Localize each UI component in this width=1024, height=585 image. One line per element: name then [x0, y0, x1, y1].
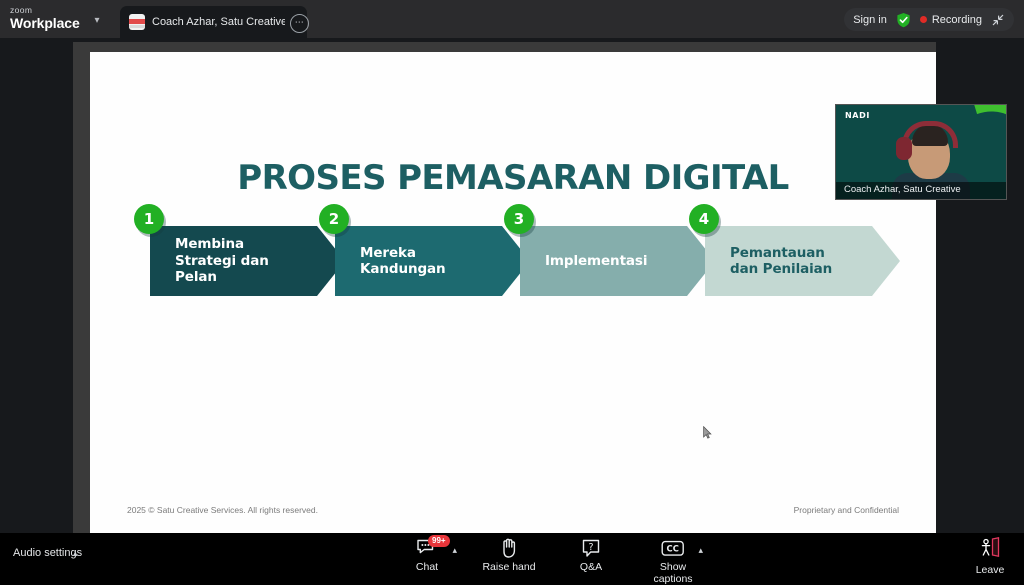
- process-step-2: Mereka Kandungan: [335, 226, 530, 296]
- leave-button[interactable]: Leave: [968, 537, 1012, 576]
- chevron-down-icon[interactable]: ▾: [90, 14, 104, 28]
- process-step-number-4: 4: [689, 204, 719, 234]
- leave-door-icon: [968, 537, 1012, 562]
- closed-caption-icon: CC: [644, 537, 702, 559]
- chevron-up-icon[interactable]: ▴: [73, 548, 78, 559]
- zoom-workplace-logo: zoom Workplace: [10, 5, 98, 35]
- zoom-window: zoom Workplace ▾ Coach Azhar, Satu Creat…: [0, 0, 1024, 576]
- toolbar-button-raise-hand[interactable]: Raise hand: [480, 537, 538, 576]
- title-bar: zoom Workplace ▾ Coach Azhar, Satu Creat…: [0, 0, 1024, 38]
- shared-screen-frame: PROSES PEMASARAN DIGITAL Membina Strateg…: [73, 42, 936, 533]
- toolbar-button-q-a[interactable]: ?Q&A: [562, 537, 620, 576]
- chat-unread-badge: 99+: [428, 535, 450, 547]
- tab-more-icon[interactable]: ⋯: [290, 14, 309, 33]
- audio-settings-button[interactable]: Audio settings ▴: [13, 547, 82, 559]
- chevron-up-icon[interactable]: ▴: [698, 545, 703, 556]
- footer-copyright: 2025 © Satu Creative Services. All right…: [127, 505, 318, 515]
- footer-confidential: Proprietary and Confidential: [794, 505, 899, 515]
- toolbar-button-chat[interactable]: 99+▴Chat: [398, 537, 456, 576]
- toolbar-center-group: 99+▴ChatRaise hand?Q&ACC▴Show captions: [398, 537, 702, 576]
- raise-hand-icon: [480, 537, 538, 559]
- process-step-label: Mereka Kandungan: [360, 245, 446, 278]
- toolbar-button-label: Chat: [398, 561, 456, 573]
- mouse-cursor-icon: [703, 426, 712, 439]
- collapse-icon[interactable]: [991, 13, 1005, 27]
- sign-in-button[interactable]: Sign in: [853, 14, 887, 26]
- recording-dot-icon: [920, 16, 927, 23]
- participant-video-thumbnail[interactable]: NADI Coach Azhar, Satu Creative: [835, 104, 1007, 200]
- process-step-3: Implementasi: [520, 226, 715, 296]
- nadi-watermark: NADI: [845, 111, 870, 120]
- process-step-number-2: 2: [319, 204, 349, 234]
- tab-title: Coach Azhar, Satu Creative's scre: [152, 15, 285, 30]
- svg-text:?: ?: [588, 542, 593, 553]
- participant-name: Coach Azhar, Satu Creative: [844, 184, 961, 195]
- process-step-label: Membina Strategi dan Pelan: [175, 236, 269, 286]
- participant-name-bar: Coach Azhar, Satu Creative: [836, 182, 1006, 199]
- process-flow-diagram: Membina Strategi dan Pelan1Mereka Kandun…: [90, 52, 936, 533]
- process-step-label: Pemantauan dan Penilaian: [730, 245, 832, 278]
- presentation-slide: PROSES PEMASARAN DIGITAL Membina Strateg…: [90, 52, 936, 533]
- toolbar-button-label: Q&A: [562, 561, 620, 573]
- question-box-icon: ?: [562, 537, 620, 559]
- recording-indicator[interactable]: Recording: [920, 14, 982, 26]
- toolbar-button-label: Raise hand: [480, 561, 538, 573]
- process-step-number-1: 1: [134, 204, 164, 234]
- share-tab[interactable]: Coach Azhar, Satu Creative's scre ⋯: [120, 6, 307, 38]
- process-step-number-3: 3: [504, 204, 534, 234]
- share-stage: PROSES PEMASARAN DIGITAL Membina Strateg…: [0, 38, 1024, 533]
- audio-settings-label: Audio settings: [13, 547, 82, 559]
- process-step-1: Membina Strategi dan Pelan: [150, 226, 345, 296]
- titlebar-right-group: Sign in Recording: [844, 8, 1014, 31]
- headphone-cup-icon: [896, 137, 912, 160]
- shield-check-icon[interactable]: [896, 12, 911, 28]
- svg-text:CC: CC: [667, 543, 679, 553]
- brand-small-text: zoom: [10, 5, 98, 15]
- leave-label: Leave: [968, 564, 1012, 576]
- brand-main-text: Workplace: [10, 15, 98, 31]
- recording-label: Recording: [932, 14, 982, 26]
- toolbar-button-label: Show captions: [644, 561, 702, 585]
- toolbar-button-show-captions[interactable]: CC▴Show captions: [644, 537, 702, 576]
- meeting-toolbar: Audio settings ▴ 99+▴ChatRaise hand?Q&AC…: [0, 533, 1024, 576]
- process-step-4: Pemantauan dan Penilaian: [705, 226, 900, 296]
- process-step-label: Implementasi: [545, 253, 647, 270]
- slide-title: PROSES PEMASARAN DIGITAL: [90, 158, 936, 198]
- tab-favicon-icon: [129, 14, 145, 30]
- chevron-up-icon[interactable]: ▴: [452, 545, 457, 556]
